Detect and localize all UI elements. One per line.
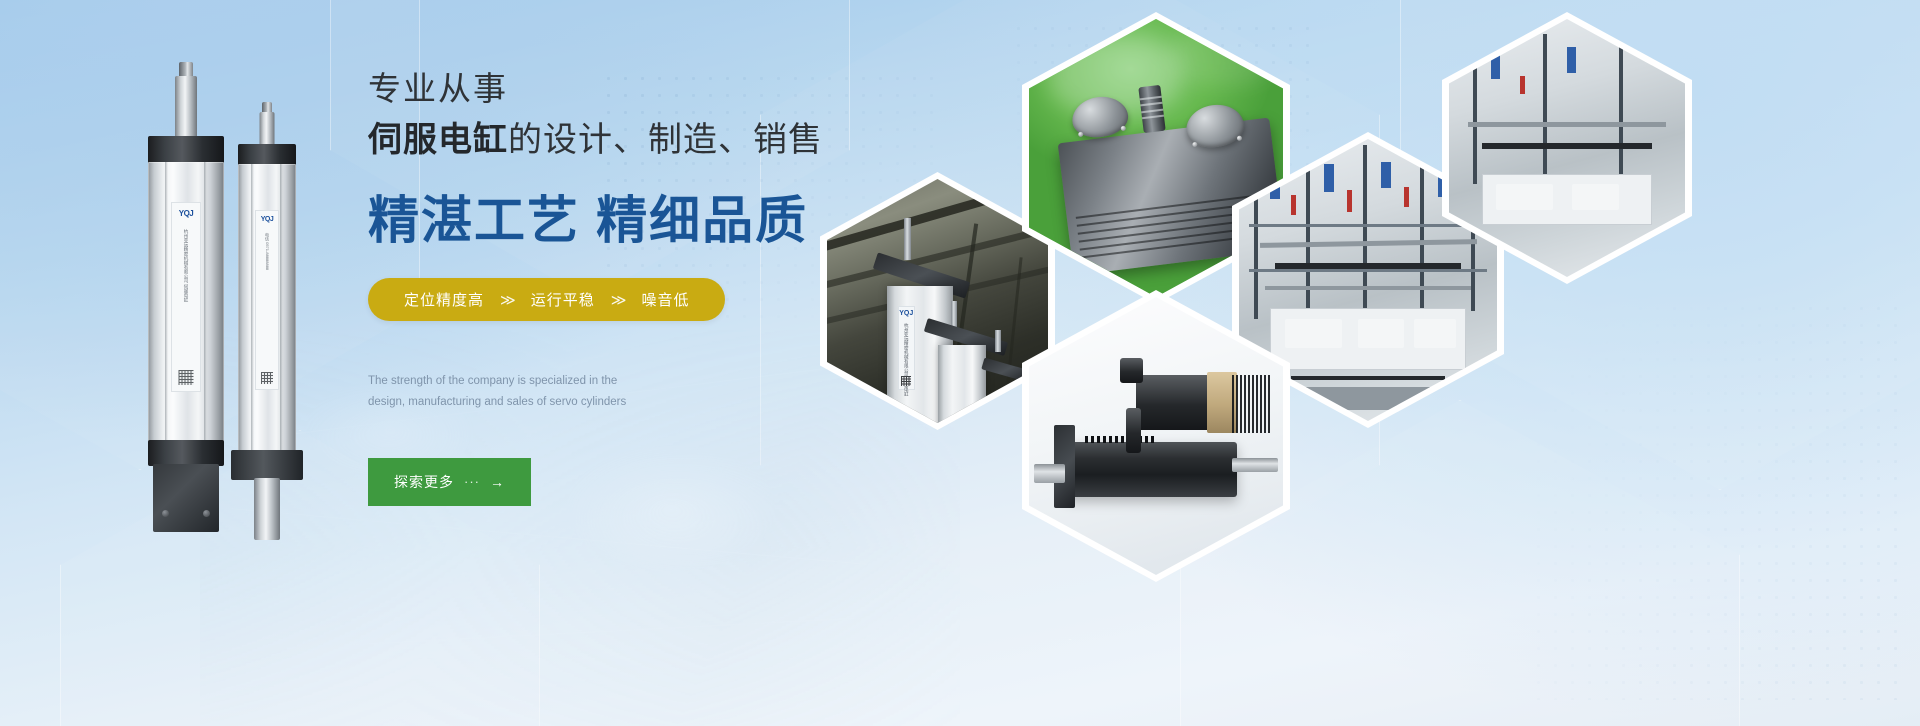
feature-pill: 定位精度高 ≫ 运行平稳 ≫ 噪音低	[368, 278, 725, 321]
cylinder-output-shaft	[254, 478, 280, 540]
bolt	[162, 510, 169, 517]
headline-main: 精湛工艺 精细品质	[368, 192, 838, 251]
servo-cylinder-small: YQJ 电话 0571-88888888	[238, 102, 296, 542]
motor-connector-block	[1120, 358, 1143, 383]
hero-banner: YQJ 杭州亚远精密机械有限公司 伺服电缸 YQJ 电话 0571-888888…	[0, 0, 1920, 726]
hero-copy-block: 专业从事 伺服电缸的设计、制造、销售 精湛工艺 精细品质 定位精度高 ≫ 运行平…	[368, 68, 838, 506]
servo-cylinder-large: YQJ 杭州亚远精密机械有限公司 伺服电缸	[148, 62, 224, 532]
arrow-right-icon: →	[490, 474, 505, 490]
feature-item-2: 运行平稳	[525, 289, 601, 310]
qr-code	[261, 372, 273, 384]
brand-logo-text: YQJ	[179, 209, 194, 218]
chevron-right-icon: ≫	[601, 291, 636, 309]
cylinder-end-cap-bottom	[148, 440, 224, 466]
coupling-housing	[1126, 408, 1141, 452]
spec-text-vertical: 电话 0571-88888888	[264, 233, 270, 270]
cylinder-barrel	[1065, 442, 1238, 498]
qr-code	[901, 376, 911, 386]
photo-product-label: YQJ 杭州亚远精密机械有限公司 伺服电缸	[898, 306, 915, 390]
spec-text-vertical: 杭州亚远精密机械有限公司 伺服电缸	[183, 229, 189, 302]
cylinder-rod	[175, 76, 197, 138]
hex-photo-black-servo-cylinder[interactable]	[1022, 290, 1290, 582]
cylinder-rack-teeth	[1085, 436, 1197, 443]
ellipsis-icon: ···	[464, 474, 480, 489]
explore-more-label: 探索更多	[394, 472, 454, 492]
explore-more-button[interactable]: 探索更多 ··· →	[368, 458, 531, 506]
brand-logo-text: YQJ	[899, 310, 913, 317]
headline-eyebrow: 专业从事	[368, 68, 838, 109]
product-hero-image: YQJ 杭州亚远精密机械有限公司 伺服电缸 YQJ 电话 0571-888888…	[130, 40, 360, 540]
brand-logo-text: YQJ	[261, 216, 274, 223]
motor-cooling-ribs	[1232, 375, 1273, 433]
headline-highlight-servo-cylinder: 伺服电缸	[368, 117, 508, 166]
bolt	[203, 510, 210, 517]
cylinder-end-cap-top	[238, 144, 296, 166]
cylinder-rod	[260, 112, 275, 146]
cylinder-mounting-foot	[153, 464, 219, 532]
english-description: The strength of the company is specializ…	[368, 371, 636, 411]
cylinder-spec-label: YQJ 电话 0571-88888888	[255, 210, 279, 390]
chevron-right-icon: ≫	[490, 291, 525, 309]
rod-extension	[1232, 458, 1278, 472]
feature-item-1: 定位精度高	[398, 289, 490, 310]
headline-secondary-rest: 的设计、制造、销售	[508, 121, 823, 159]
cylinder-end-cap-top	[148, 136, 224, 164]
output-shaft	[1034, 464, 1064, 483]
hex-photo-servo-cylinders-factory-roof[interactable]: YQJ 杭州亚远精密机械有限公司 伺服电缸	[820, 172, 1055, 430]
hex-photo-automation-line-partial[interactable]	[1442, 12, 1692, 284]
cylinder-spec-label: YQJ 杭州亚远精密机械有限公司 伺服电缸	[171, 202, 201, 392]
hexagon-photo-gallery: YQJ 杭州亚远精密机械有限公司 伺服电缸	[800, 0, 1920, 726]
feature-item-3: 噪音低	[635, 289, 695, 310]
qr-code	[179, 370, 194, 385]
cylinder-flange	[231, 450, 303, 480]
headline-secondary: 伺服电缸的设计、制造、销售	[368, 117, 838, 166]
